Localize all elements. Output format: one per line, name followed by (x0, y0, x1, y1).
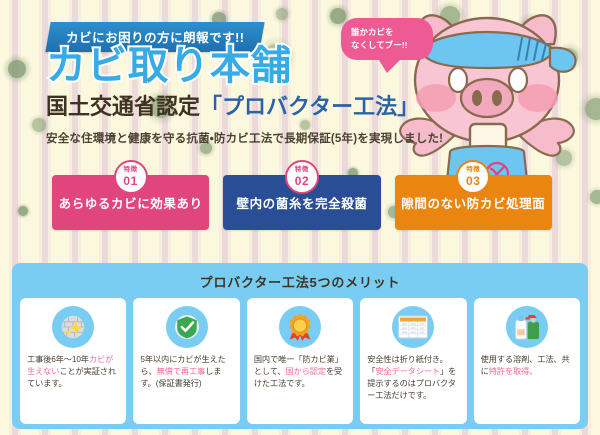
feature-box-1[interactable]: 特徴 01 あらゆるカビに効果あり (52, 175, 209, 230)
gold-award-medal-icon-glyph (286, 313, 314, 341)
merit-card-text: 安全性は折り紙付き。「安全データシート」を提示するのはプロバクター工法だけです。 (367, 354, 459, 402)
brick-wall-sparkle-icon-glyph (58, 312, 88, 342)
document-table-icon-glyph (398, 312, 428, 342)
merit-text-part: 工事後6年〜10年 (27, 355, 89, 364)
feature-text-1: あらゆるカビに効果あり (59, 193, 203, 212)
feature-box-2[interactable]: 特徴 02 壁内の菌糸を完全殺菌 (223, 175, 380, 230)
sub-title-method: 「プロバクター工法」 (200, 94, 419, 119)
merits-title: プロバクター工法5つのメリット (12, 263, 588, 291)
feature-badge-number-2: 02 (295, 175, 310, 187)
merit-text-part: 国から認定 (286, 367, 326, 376)
merit-text-part: 特許を取得。 (489, 367, 538, 376)
speech-bubble-tail (377, 57, 403, 73)
merit-card[interactable]: 国内で唯一「防カビ業」として、国から認定を受けた工法です。 (247, 298, 353, 424)
sub-title: 国土交通省認定「プロバクター工法」 (46, 96, 419, 118)
merit-card-text: 国内で唯一「防カビ業」として、国から認定を受けた工法です。 (254, 354, 346, 390)
merit-card[interactable]: 工事後6年〜10年カビが生えないことが実証されています。 (20, 298, 126, 424)
merit-text-part: 無償で再工事 (157, 367, 206, 376)
feature-box-3[interactable]: 特徴 03 隙間のない防カビ処理面 (395, 175, 552, 230)
feature-badge-number-3: 03 (466, 175, 481, 187)
green-shield-check-icon (166, 306, 208, 348)
spray-bottles-icon-glyph (512, 312, 542, 342)
feature-badge-2: 特徴 02 (285, 160, 319, 194)
hero-lead-text: 安全な住環境と健康を守る抗菌・防カビ工法で長期保証(5年)を実現しました! (46, 130, 443, 146)
merit-card-list: 工事後6年〜10年カビが生えないことが実証されています。 5年以内にカビが生えた… (12, 291, 588, 424)
document-table-icon (392, 306, 434, 348)
merit-card-text: 工事後6年〜10年カビが生えないことが実証されています。 (27, 354, 119, 390)
merit-text-part: 安全データシート (375, 367, 440, 376)
feature-badge-number-1: 01 (123, 175, 138, 187)
merit-card-text: 5年以内にカビが生えたら、無償で再工事します。(保証書発行) (140, 354, 232, 390)
spray-bottles-icon (506, 306, 548, 348)
merit-card[interactable]: 安全性は折り紙付き。「安全データシート」を提示するのはプロバクター工法だけです。 (360, 298, 466, 424)
green-shield-check-icon-glyph (172, 312, 202, 342)
feature-badge-label-1: 特徴 (124, 167, 138, 174)
page-title: カビ取り本舗 (46, 46, 292, 86)
feature-badge-label-2: 特徴 (295, 167, 309, 174)
feature-box-list: 特徴 01 あらゆるカビに効果あり 特徴 02 壁内の菌糸を完全殺菌 特徴 03… (52, 175, 552, 230)
feature-badge-label-3: 特徴 (466, 167, 480, 174)
feature-badge-1: 特徴 01 (114, 160, 148, 194)
feature-badge-3: 特徴 03 (456, 160, 490, 194)
merits-panel: プロバクター工法5つのメリット 工事後6年〜10年カビが生えないことが実証されて… (12, 263, 588, 429)
merit-card[interactable]: 使用する溶剤、工法、共に特許を取得。 (474, 298, 580, 424)
sub-title-certification: 国土交通省認定 (46, 94, 200, 119)
gold-award-medal-icon (279, 306, 321, 348)
merit-card-text: 使用する溶剤、工法、共に特許を取得。 (481, 354, 573, 378)
feature-text-3: 隙間のない防カビ処理面 (401, 193, 545, 212)
speech-line-1: 誰かカビを (351, 26, 423, 39)
feature-text-2: 壁内の菌糸を完全殺菌 (236, 193, 367, 212)
speech-line-2: なくしてブー!! (351, 39, 423, 52)
brick-wall-sparkle-icon (52, 306, 94, 348)
merit-card[interactable]: 5年以内にカビが生えたら、無償で再工事します。(保証書発行) (133, 298, 239, 424)
mascot-speech-bubble: 誰かカビを なくしてブー!! (341, 18, 433, 60)
